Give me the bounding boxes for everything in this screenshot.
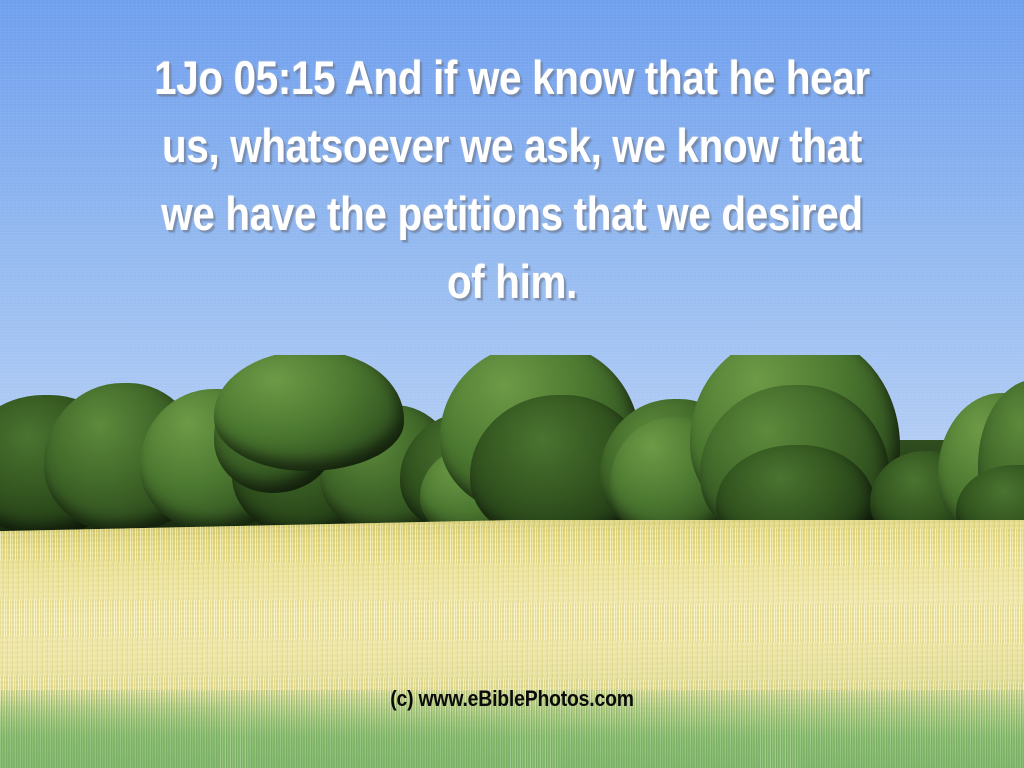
wheat-field <box>0 520 1024 768</box>
verse-line-2: us, whatsoever we ask, we know that <box>72 112 953 180</box>
bible-verse-image: 1Jo 05:15 And if we know that he hear us… <box>0 0 1024 768</box>
copyright-watermark: (c) www.eBiblePhotos.com <box>61 687 962 711</box>
grass-patch <box>560 722 760 768</box>
tree-canopy <box>214 355 404 471</box>
verse-text: 1Jo 05:15 And if we know that he hear us… <box>0 44 1024 316</box>
verse-line-4: of him. <box>72 248 953 316</box>
grass-patch <box>250 710 510 768</box>
grass-patch <box>800 728 1024 768</box>
verse-line-3: we have the petitions that we desired <box>72 180 953 248</box>
verse-line-1: 1Jo 05:15 And if we know that he hear <box>72 44 953 112</box>
